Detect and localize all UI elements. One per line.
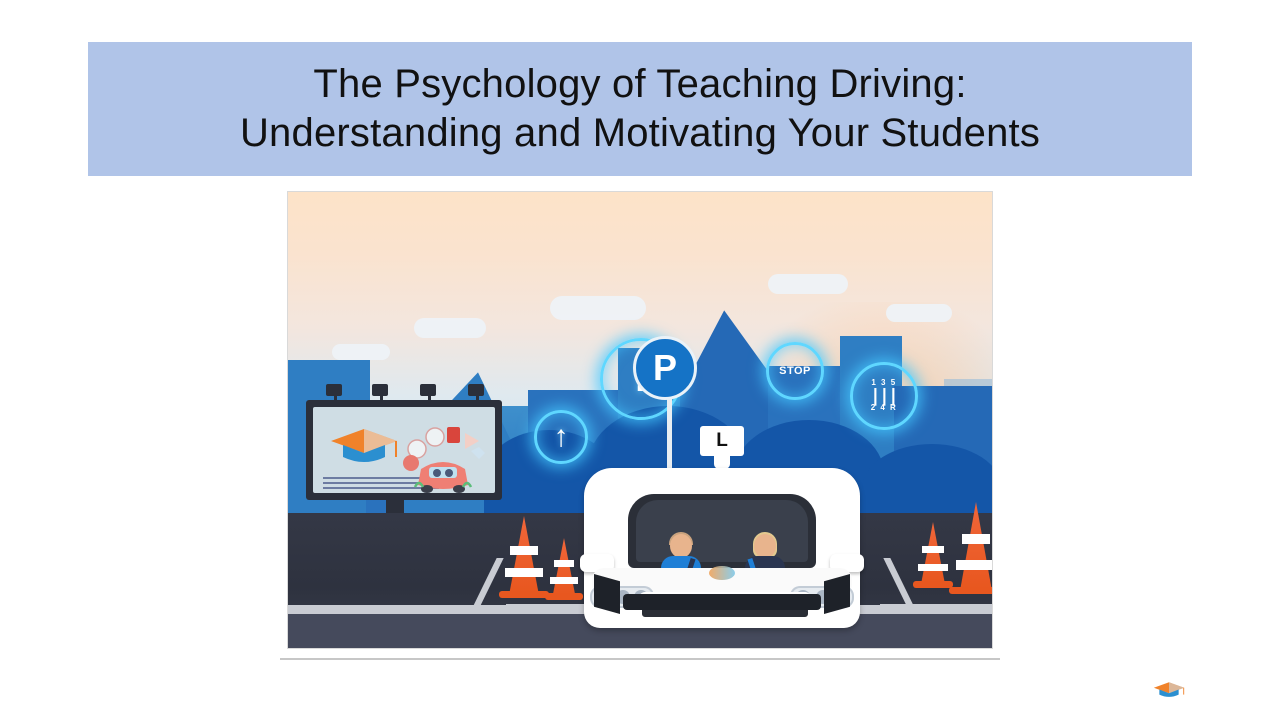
cloud-icon	[414, 318, 486, 338]
cloud-icon	[886, 304, 952, 322]
billboard-lamp	[468, 384, 484, 396]
billboard-car-graphic	[399, 421, 485, 493]
car-badge	[709, 566, 735, 580]
illustration-canvas: ! ↑ STOP 1 3 5 ∣∣∣ 2 4 R P	[288, 192, 992, 648]
parking-sign: P	[633, 336, 697, 400]
gear-shift-sign: 1 3 5 ∣∣∣ 2 4 R	[850, 362, 918, 430]
cloud-icon	[332, 344, 390, 360]
lower-grille	[623, 594, 822, 610]
graduation-cap-icon	[327, 423, 401, 473]
billboard-lamp	[326, 384, 342, 396]
head	[670, 534, 692, 558]
road-marking	[883, 558, 915, 610]
car-body	[584, 468, 860, 628]
billboard-lamp	[372, 384, 388, 396]
up-arrow-icon: ↑	[554, 422, 569, 452]
stop-sign: STOP	[766, 342, 824, 400]
gear-bottom-row: 2 4 R	[871, 404, 898, 413]
billboard-lamp	[420, 384, 436, 396]
l-plate: L	[700, 426, 744, 456]
traffic-cone	[948, 502, 992, 594]
page-title: The Psychology of Teaching Driving: Unde…	[226, 60, 1054, 158]
traffic-cone	[544, 538, 584, 600]
slide-illustration: ! ↑ STOP 1 3 5 ∣∣∣ 2 4 R P	[288, 192, 992, 648]
road-marking	[880, 604, 992, 610]
windshield	[636, 500, 809, 562]
content-divider	[280, 658, 1000, 660]
up-arrow-sign: ↑	[534, 410, 588, 464]
gear-pattern-glyph: ∣∣∣	[871, 388, 898, 404]
traffic-cone	[498, 516, 550, 598]
title-line-2: Understanding and Motivating Your Studen…	[240, 109, 1040, 158]
road-safety-billboard	[306, 400, 502, 500]
stop-label: STOP	[779, 365, 811, 377]
cloud-icon	[550, 296, 646, 320]
title-line-1: The Psychology of Teaching Driving:	[240, 60, 1040, 109]
car-cabin	[628, 494, 816, 568]
learner-car: L	[584, 426, 860, 628]
cloud-icon	[768, 274, 848, 294]
billboard-panel	[313, 407, 495, 493]
gear-pattern-icon: 1 3 5 ∣∣∣ 2 4 R	[871, 379, 898, 413]
parking-label: P	[653, 350, 677, 386]
slide-title-banner: The Psychology of Teaching Driving: Unde…	[88, 42, 1192, 176]
graduation-cap-logo	[1152, 676, 1186, 704]
